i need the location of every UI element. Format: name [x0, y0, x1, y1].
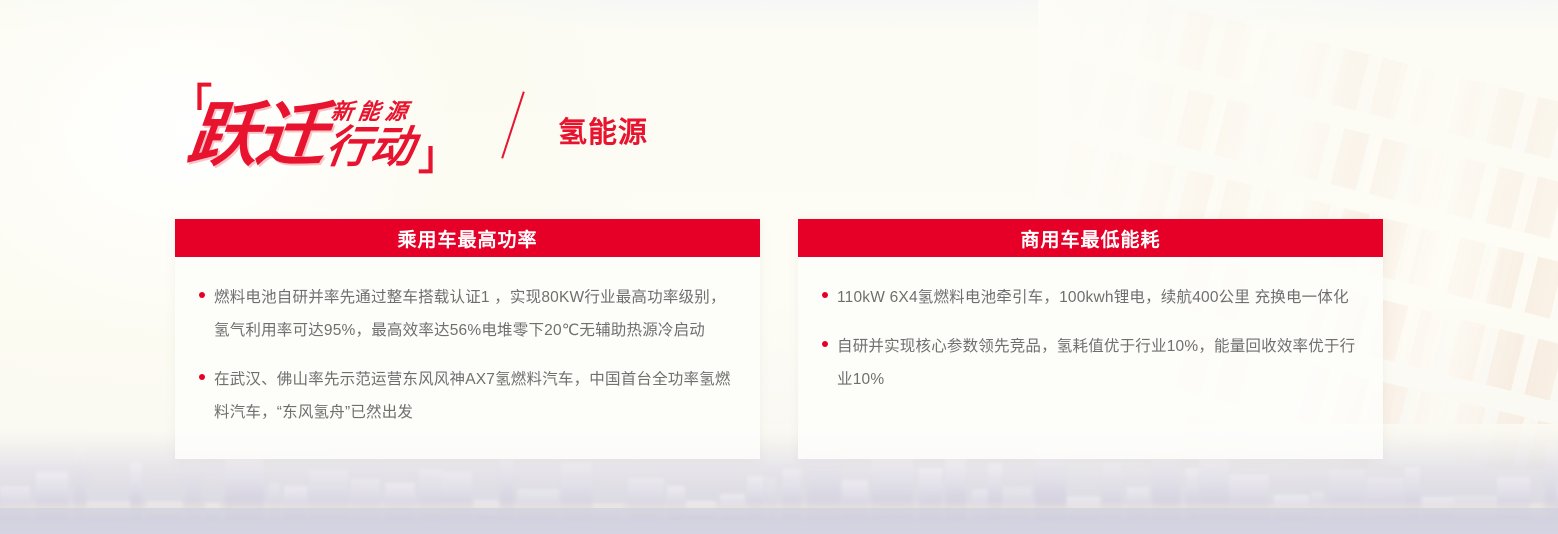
card-header-title: 商用车最低能耗	[798, 219, 1383, 257]
card-body: 110kW 6X4氢燃料电池牵引车，100kwh锂电，续航400公里 充换电一体…	[798, 257, 1383, 443]
bracket-close-glyph: 」	[418, 136, 458, 176]
list-item-text: 燃料电池自研并率先通过整车搭载认证1 ，实现80KW行业最高功率级别，氢气利用率…	[214, 281, 738, 347]
list-item-text: 110kW 6X4氢燃料电池牵引车，100kwh锂电，续航400公里 充换电一体…	[837, 281, 1349, 314]
list-item-text: 自研并实现核心参数领先竞品，氢耗值优于行业10%，能量回收效率优于行业10%	[837, 330, 1361, 396]
card-header-title: 乘用车最高功率	[175, 219, 760, 257]
brand-logo-lockup: 「 跃迁 新能源 行动 」 氢能源	[172, 78, 648, 170]
logo-mark: 「 跃迁 新能源 行动 」	[172, 78, 458, 170]
bullet-dot-icon	[822, 341, 828, 347]
cards-container: 乘用车最高功率 燃料电池自研并率先通过整车搭载认证1 ，实现80KW行业最高功率…	[0, 219, 1558, 459]
card-body: 燃料电池自研并率先通过整车搭载认证1 ，实现80KW行业最高功率级别，氢气利用率…	[175, 257, 760, 459]
list-item-text: 在武汉、佛山率先示范运营东风风神AX7氢燃料汽车，中国首台全功率氢燃料汽车，“东…	[214, 363, 738, 429]
list-item: 在武汉、佛山率先示范运营东风风神AX7氢燃料汽车，中国首台全功率氢燃料汽车，“东…	[193, 363, 738, 429]
separator-slash-icon	[484, 84, 546, 164]
logo-subtitle-top: 新能源	[330, 100, 421, 124]
logo-subtitle-bottom: 行动	[323, 126, 417, 170]
hydrogen-energy-banner: 「 跃迁 新能源 行动 」 氢能源 乘用车最高功率 燃料电池自研并率先通过整车搭…	[0, 0, 1558, 534]
bullet-dot-icon	[199, 292, 205, 298]
logo-category-tag: 氢能源	[558, 109, 648, 151]
list-item: 110kW 6X4氢燃料电池牵引车，100kwh锂电，续航400公里 充换电一体…	[816, 281, 1361, 314]
list-item: 燃料电池自研并率先通过整车搭载认证1 ，实现80KW行业最高功率级别，氢气利用率…	[193, 281, 738, 347]
bullet-dot-icon	[822, 292, 828, 298]
bullet-dot-icon	[199, 374, 205, 380]
card-passenger-vehicle: 乘用车最高功率 燃料电池自研并率先通过整车搭载认证1 ，实现80KW行业最高功率…	[175, 219, 760, 459]
logo-main-text: 跃迁	[184, 100, 327, 170]
logo-secondary-stack: 新能源 行动	[323, 100, 421, 170]
card-commercial-vehicle: 商用车最低能耗 110kW 6X4氢燃料电池牵引车，100kwh锂电，续航400…	[798, 219, 1383, 459]
list-item: 自研并实现核心参数领先竞品，氢耗值优于行业10%，能量回收效率优于行业10%	[816, 330, 1361, 396]
